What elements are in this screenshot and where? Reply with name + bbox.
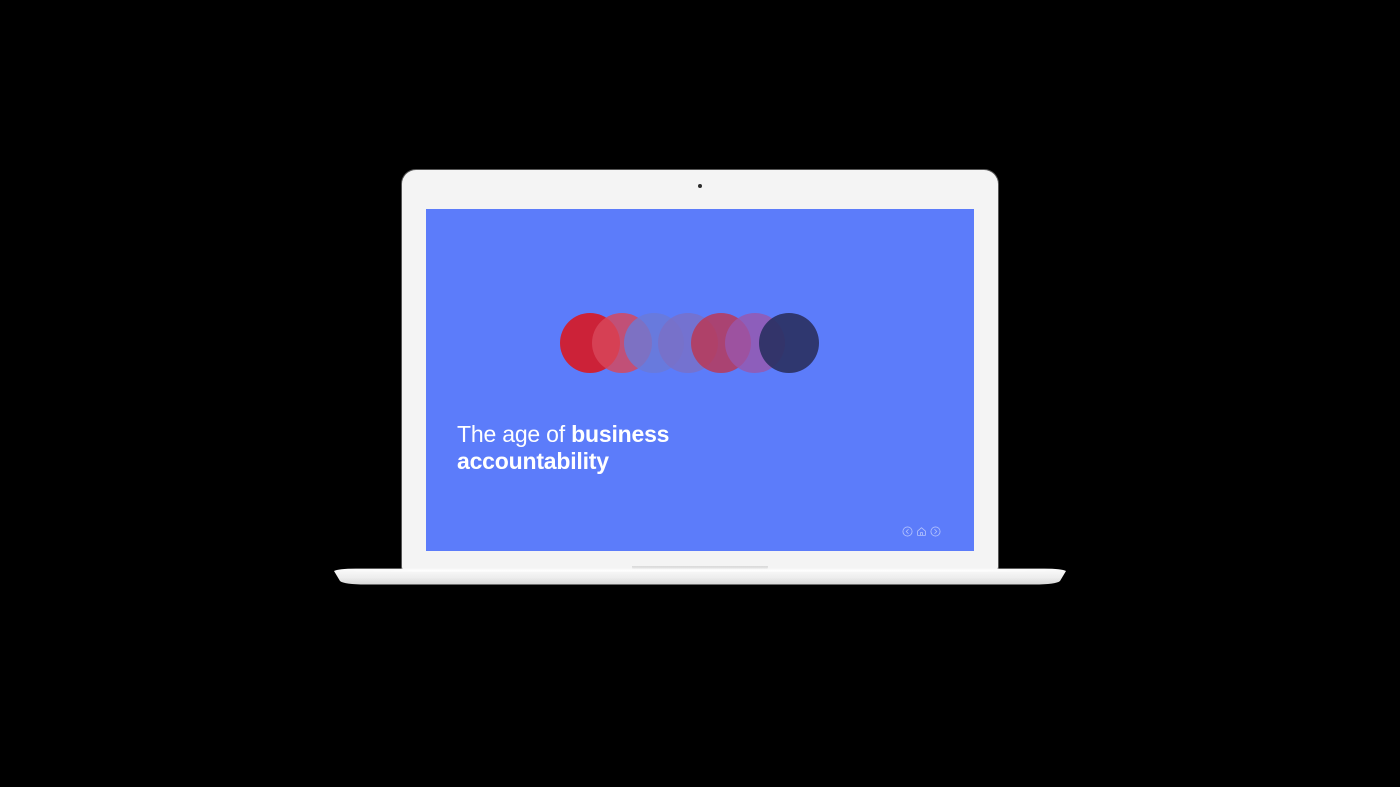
laptop-screen: The age of business accountability xyxy=(426,209,974,551)
home-icon xyxy=(916,526,927,537)
slide-background xyxy=(426,209,974,551)
laptop-lid: The age of business accountability xyxy=(402,170,998,570)
canvas-stage: The age of business accountability xyxy=(0,0,1400,787)
slide-navigation xyxy=(902,526,941,537)
camera-icon xyxy=(698,184,702,188)
title-line-2: accountability xyxy=(457,448,757,475)
chevron-left-circle-icon xyxy=(902,526,913,537)
laptop-base xyxy=(334,568,1066,584)
title-bold-part-1: business xyxy=(571,421,669,447)
title-light-part: The age of xyxy=(457,421,571,447)
title-line-1: The age of business xyxy=(457,421,757,448)
home-button[interactable] xyxy=(916,526,927,537)
laptop-mockup: The age of business accountability xyxy=(402,170,998,574)
laptop-base-shape xyxy=(334,568,1066,586)
slide-title: The age of business accountability xyxy=(457,421,757,475)
chevron-right-circle-icon xyxy=(930,526,941,537)
next-slide-button[interactable] xyxy=(930,526,941,537)
previous-slide-button[interactable] xyxy=(902,526,913,537)
